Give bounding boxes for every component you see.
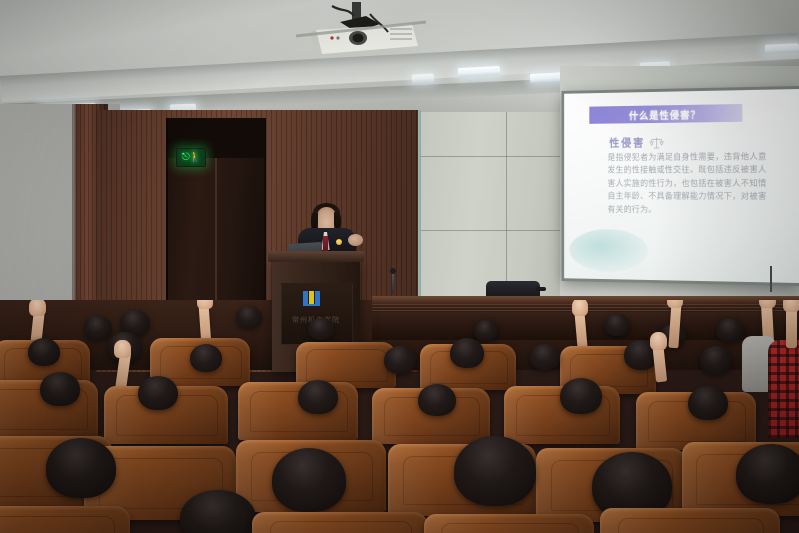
audience-head <box>28 338 60 366</box>
audience-head <box>604 314 630 336</box>
auditorium-seat <box>600 508 780 533</box>
raised-hand <box>572 300 588 316</box>
slide-body-line: 是指侵犯者为满足自身性需要，违背他人意 <box>607 151 799 165</box>
auditorium-seat <box>0 506 130 533</box>
auditorium-seat <box>238 382 358 440</box>
raised-hand <box>783 300 799 312</box>
audience-head <box>700 346 732 374</box>
audience-head <box>474 320 498 341</box>
auditorium-seat <box>252 512 428 533</box>
speaker-arm <box>348 234 363 246</box>
slide-body-line: 自主年龄、不具备理解能力情况下，对被害 <box>607 191 799 205</box>
audience-head <box>272 448 346 512</box>
audience-head <box>236 306 262 328</box>
audience-head <box>308 318 334 340</box>
scales-of-justice-icon <box>650 136 664 149</box>
audience-head <box>40 372 80 406</box>
panel-wall <box>418 112 560 300</box>
slide-title-text: 什么是性侵害？ <box>629 106 701 122</box>
podium-top <box>268 251 364 262</box>
exit-sign: ⎋🚶 <box>176 148 206 167</box>
raised-hand <box>29 300 46 316</box>
projector-icon <box>296 2 426 60</box>
panel-line <box>506 112 507 300</box>
audience-head <box>84 316 112 340</box>
raised-hand <box>197 300 213 309</box>
audience-head <box>384 346 416 374</box>
microphone-head <box>390 268 396 274</box>
audience-head <box>450 338 484 368</box>
speaker-tie <box>323 236 328 251</box>
raised-hand <box>114 340 131 358</box>
slide-body-line: 发生的性接触或性交往。既包括违反被害人 <box>607 164 799 178</box>
ceiling-light <box>765 43 799 54</box>
audience-area <box>0 300 799 533</box>
slide-body: 是指侵犯者为满足自身性需要，违背他人意 发生的性接触或性交往。既包括违反被害人 … <box>607 151 799 218</box>
plaid-shirt <box>768 340 799 438</box>
slide-body-line: 有关的行为。 <box>607 204 799 218</box>
slide-title-banner: 什么是性侵害？ <box>589 104 742 124</box>
panel-line <box>418 230 560 231</box>
raised-hand <box>667 300 683 308</box>
slide-body-line: 害人实施的性行为，也包括在被害人不知情 <box>607 178 799 191</box>
slide-decoration-ellipse <box>570 229 648 272</box>
audience-head <box>736 444 799 504</box>
audience-head <box>46 438 116 498</box>
chair-armrest <box>536 287 546 291</box>
raised-hand <box>650 332 667 350</box>
slide-heading-text: 性侵害 <box>609 135 645 151</box>
audience-head <box>716 318 744 342</box>
projection-screen: 什么是性侵害？ 性侵害 是指侵犯者为满足自身性需要，违背他人意 发生的性接触或性… <box>564 89 799 283</box>
speaker-badge <box>336 239 342 245</box>
audience-head <box>298 380 338 414</box>
ceiling-light <box>412 73 434 83</box>
slide-heading: 性侵害 <box>609 134 663 150</box>
audience-head <box>418 384 456 416</box>
audience-head <box>190 344 222 372</box>
auditorium-seat <box>424 514 594 533</box>
raised-hand <box>759 300 776 308</box>
microphone <box>392 272 394 294</box>
audience-head <box>138 376 178 410</box>
auditorium-photo: ⎋🚶 什么是性侵害？ 性侵害 是指侵犯者为满足 <box>0 0 799 533</box>
projection-screen-frame: 什么是性侵害？ 性侵害 是指侵犯者为满足自身性需要，违背他人意 发生的性接触或性… <box>561 86 799 286</box>
audience-head <box>454 436 536 506</box>
audience-head <box>560 378 602 414</box>
exit-sign-glyph: ⎋🚶 <box>182 153 200 163</box>
panel-line <box>418 156 560 157</box>
audience-head <box>530 344 560 370</box>
microphone <box>770 266 772 292</box>
audience-head <box>688 386 728 420</box>
